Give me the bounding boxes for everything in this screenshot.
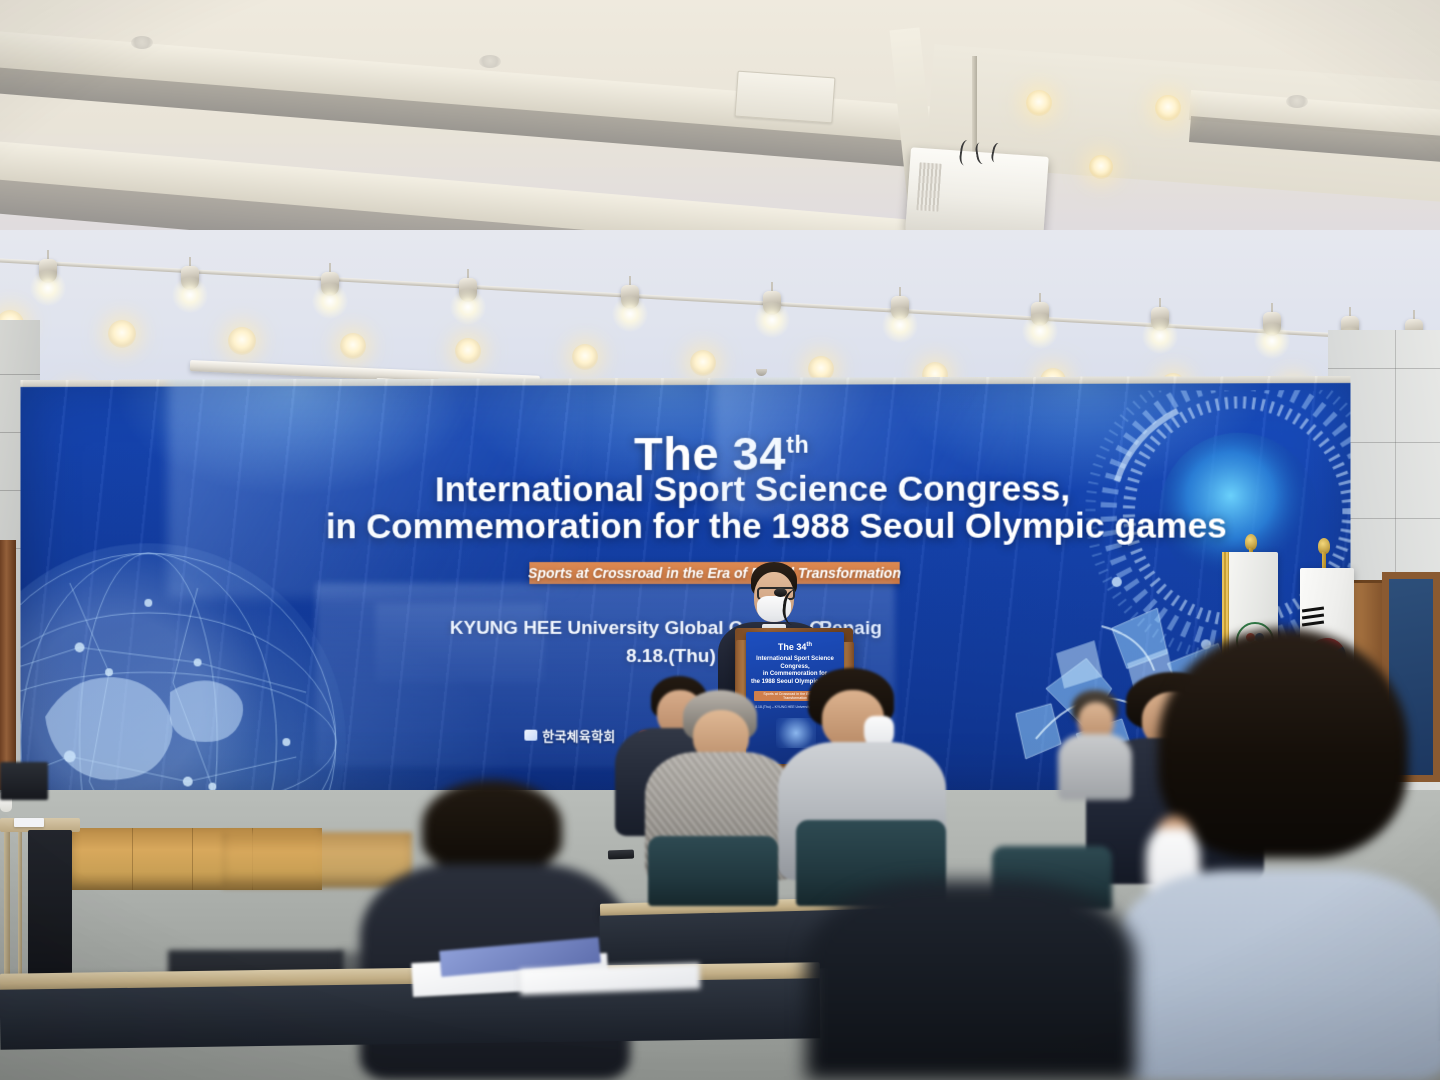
attendee-foreground-striped xyxy=(1118,628,1440,1080)
globe-network-graphic xyxy=(21,543,346,798)
audience-chair xyxy=(648,836,778,906)
ceiling-air-vent xyxy=(735,71,836,124)
paper-sheet xyxy=(14,818,44,827)
track-spotlight xyxy=(180,257,200,291)
track-spotlight xyxy=(458,269,478,303)
track-spotlight xyxy=(1262,303,1282,337)
track-spotlight xyxy=(620,276,640,310)
track-spotlight xyxy=(890,287,910,321)
track-spotlight xyxy=(762,282,782,316)
banner-headline-line1: International Sport Science Congress, xyxy=(435,469,1070,510)
equipment-box xyxy=(0,762,48,800)
track-spotlight xyxy=(38,250,58,284)
smoke-detector xyxy=(756,369,767,376)
conference-hall-photo: The 34th International Sport Science Con… xyxy=(0,0,1440,1080)
track-spotlight xyxy=(1030,293,1050,327)
smartphone[interactable] xyxy=(608,850,634,860)
audience-desk-front-left xyxy=(0,978,820,1049)
projection-reflection-bright xyxy=(375,603,544,683)
attendee-foreground-left xyxy=(806,880,1136,1080)
microphone-head xyxy=(774,588,787,597)
track-spotlight xyxy=(320,263,340,297)
banner-headline-line2: in Commemoration for the 1988 Seoul Olym… xyxy=(326,506,1227,547)
track-spotlight xyxy=(1150,298,1170,332)
banner-theme-ribbon: Sports at Crossroad in the Era of Digita… xyxy=(529,562,899,584)
